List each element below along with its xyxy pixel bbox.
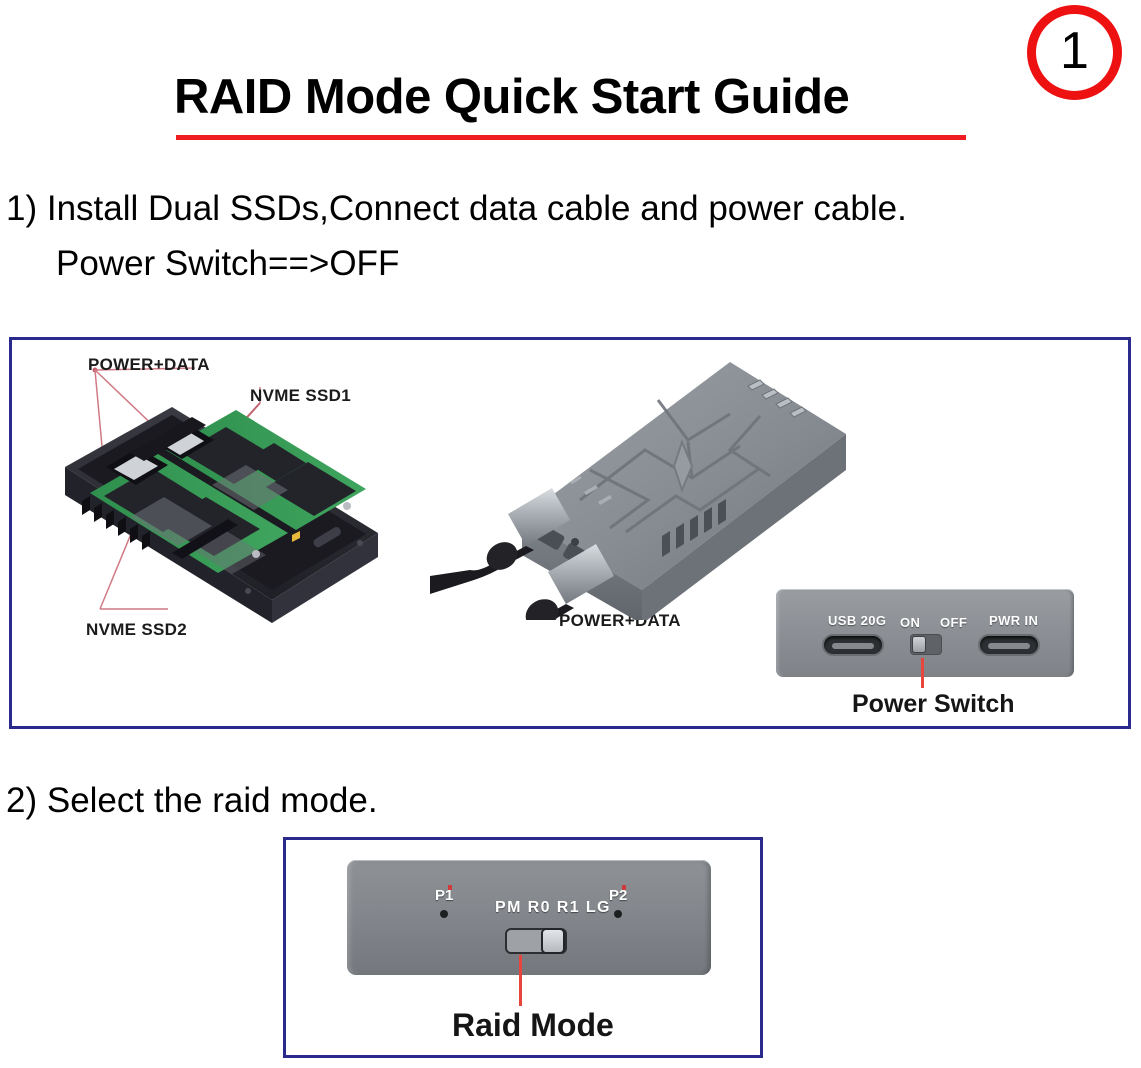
power-switch-pointer-line xyxy=(921,658,924,688)
step-1-line-1: 1) Install Dual SSDs,Connect data cable … xyxy=(6,189,907,229)
step-number-text: 1 xyxy=(1060,25,1089,77)
raid-front-panel-illustration: P1 P2 PM R0 R1 LG xyxy=(347,860,711,975)
switch-on-label: ON xyxy=(900,615,920,630)
closed-enclosure-illustration xyxy=(430,350,850,620)
title-underline xyxy=(176,135,966,140)
open-enclosure-illustration xyxy=(60,395,400,625)
callout-label-nvme-ssd1: NVME SSD1 xyxy=(250,386,351,406)
power-switch-slider[interactable] xyxy=(910,634,942,655)
usb-port-label: USB 20G xyxy=(828,613,886,628)
switch-off-label: OFF xyxy=(940,615,967,630)
power-switch-label: Power Switch xyxy=(852,690,1015,719)
step-2-line-1: 2) Select the raid mode. xyxy=(6,781,378,821)
raid-mode-options-label: PM R0 R1 LG xyxy=(495,899,611,917)
power-in-label: PWR IN xyxy=(989,613,1038,628)
led-p2-dot xyxy=(614,910,622,918)
step-1-line-2: Power Switch==>OFF xyxy=(56,244,399,284)
raid-mode-knob[interactable] xyxy=(541,928,565,954)
rear-port-panel: USB 20G ON OFF PWR IN xyxy=(776,589,1074,677)
usb-c-data-port[interactable] xyxy=(822,634,884,656)
power-switch-knob[interactable] xyxy=(912,636,926,653)
page-title: RAID Mode Quick Start Guide xyxy=(174,69,974,125)
callout-label-power-data-top: POWER+DATA xyxy=(88,355,210,375)
raid-mode-label: Raid Mode xyxy=(452,1007,614,1044)
callout-label-nvme-ssd2: NVME SSD2 xyxy=(86,620,187,640)
step-number-badge: 1 xyxy=(1027,5,1122,100)
usb-c-power-port[interactable] xyxy=(978,634,1040,656)
led-p1-label: P1 xyxy=(435,887,453,904)
raid-mode-slider[interactable] xyxy=(505,928,567,954)
led-p1-dot xyxy=(440,910,448,918)
raid-mode-pointer-line xyxy=(519,955,522,1006)
led-p2-label: P2 xyxy=(609,887,627,904)
